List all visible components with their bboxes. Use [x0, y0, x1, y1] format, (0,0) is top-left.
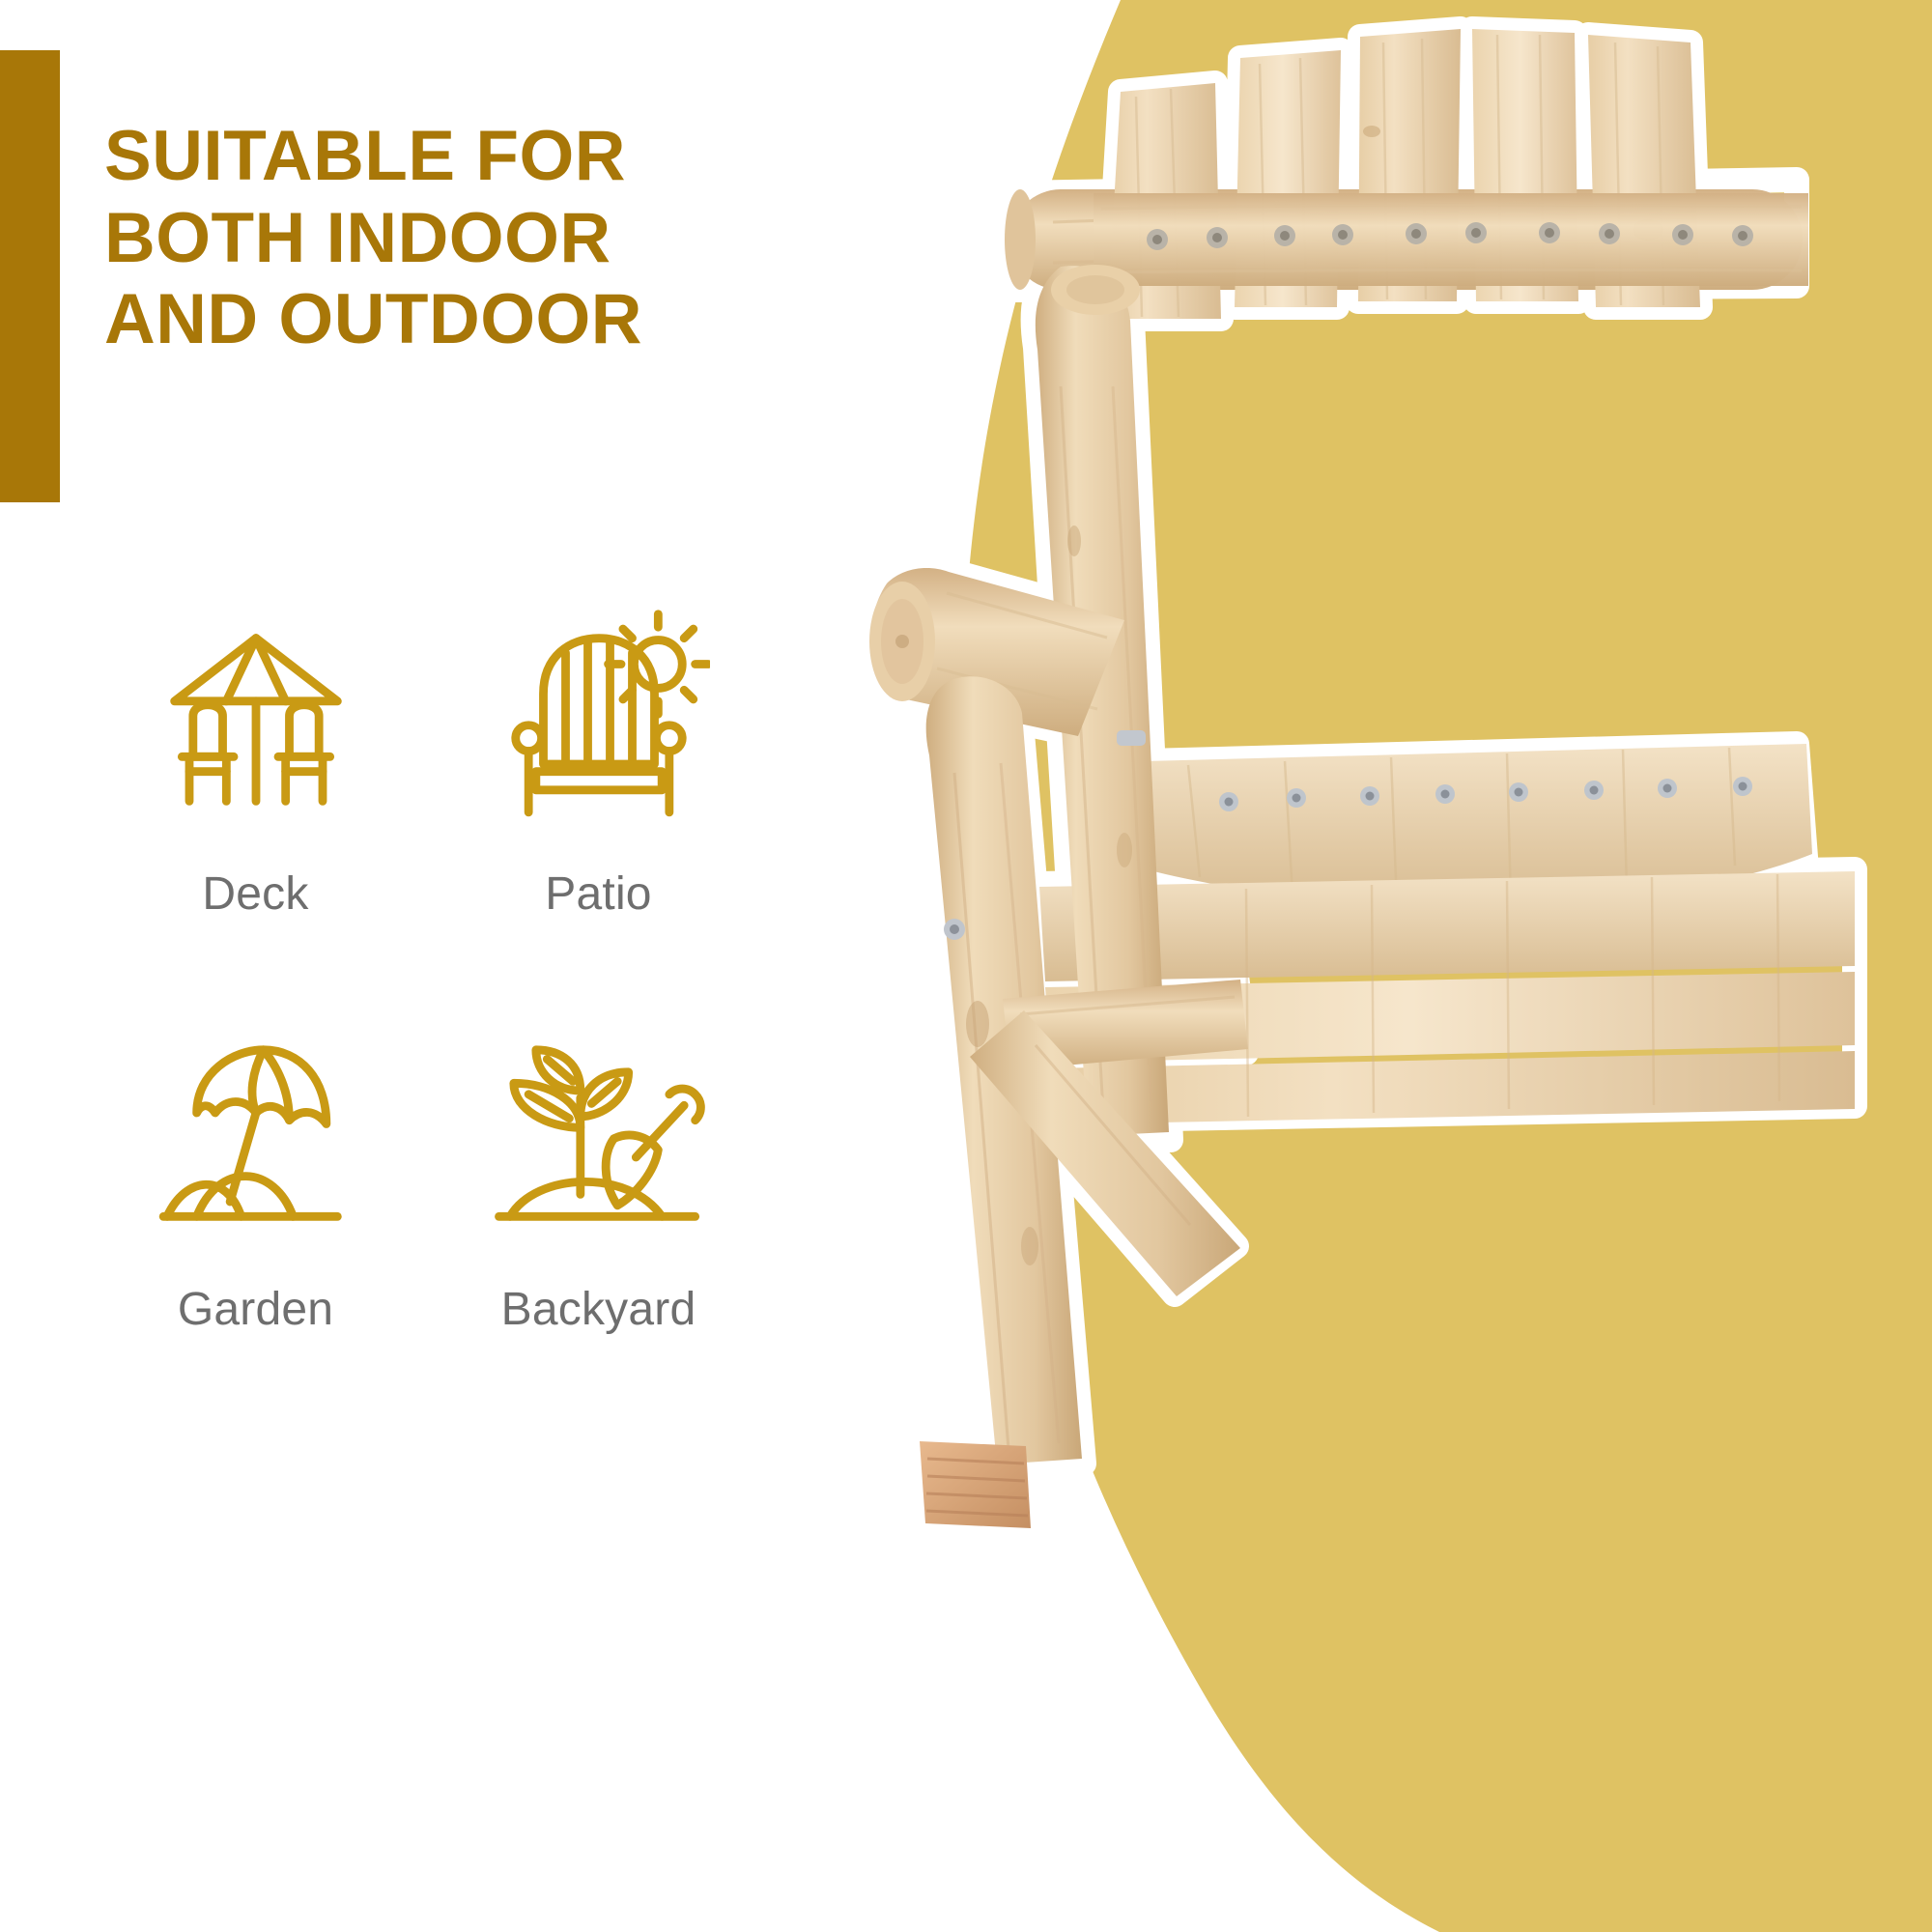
feature-item-backyard: Backyard [432, 1024, 765, 1401]
page-title: SUITABLE FOR BOTH INDOOR AND OUTDOOR [104, 116, 838, 361]
left-accent-bar [0, 50, 60, 502]
adirondack-chair-with-sun-icon [488, 609, 710, 831]
product-image-wooden-rocking-chair [831, 0, 1932, 1932]
plant-with-shovel-icon [488, 1024, 710, 1246]
headline-line-2: BOTH INDOOR [104, 198, 838, 280]
feature-item-garden: Garden [89, 1024, 422, 1401]
use-case-feature-grid: Deck [89, 609, 765, 1401]
headline-line-1: SUITABLE FOR [104, 116, 838, 198]
feature-item-deck: Deck [89, 609, 422, 985]
headline-line-3: AND OUTDOOR [104, 279, 838, 361]
feature-label-deck: Deck [202, 867, 308, 921]
feature-label-garden: Garden [178, 1283, 333, 1336]
feature-label-patio: Patio [545, 867, 651, 921]
beach-umbrella-on-dunes-icon [145, 1024, 367, 1246]
umbrella-with-chairs-icon [145, 609, 367, 831]
feature-item-patio: Patio [432, 609, 765, 985]
feature-label-backyard: Backyard [501, 1283, 696, 1336]
